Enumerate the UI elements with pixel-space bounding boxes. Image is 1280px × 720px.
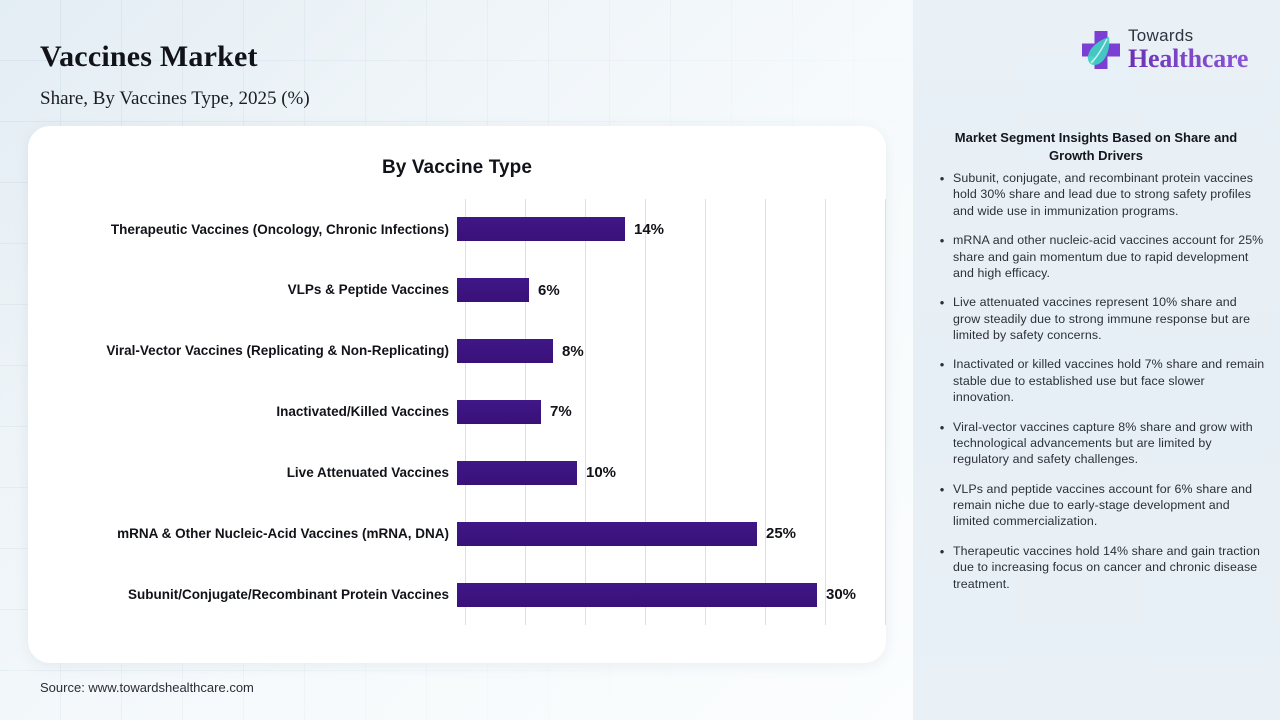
bar-value-label: 10% xyxy=(586,464,616,481)
bar-chart: Therapeutic Vaccines (Oncology, Chronic … xyxy=(28,126,886,663)
insight-text: Viral-vector vaccines capture 8% share a… xyxy=(953,419,1266,468)
bar-value-label: 8% xyxy=(562,343,584,360)
category-label: mRNA & Other Nucleic-Acid Vaccines (mRNA… xyxy=(28,523,457,545)
category-label: Inactivated/Killed Vaccines xyxy=(28,401,457,423)
bar[interactable] xyxy=(457,461,577,485)
bullet-icon: • xyxy=(931,232,953,281)
insight-text: Therapeutic vaccines hold 14% share and … xyxy=(953,543,1266,592)
category-label: VLPs & Peptide Vaccines xyxy=(28,279,457,301)
insights-list: •Subunit, conjugate, and recombinant pro… xyxy=(931,170,1266,605)
bar-value-label: 25% xyxy=(766,525,796,542)
bar-value-label: 14% xyxy=(634,221,664,238)
bar[interactable] xyxy=(457,522,757,546)
insight-text: VLPs and peptide vaccines account for 6%… xyxy=(953,481,1266,530)
bar-row: VLPs & Peptide Vaccines6% xyxy=(28,260,886,321)
bar-row: Viral-Vector Vaccines (Replicating & Non… xyxy=(28,321,886,382)
bullet-icon: • xyxy=(931,481,953,530)
bullet-icon: • xyxy=(931,170,953,219)
page-subtitle: Share, By Vaccines Type, 2025 (%) xyxy=(40,88,310,110)
bullet-icon: • xyxy=(931,294,953,343)
insight-item: •Subunit, conjugate, and recombinant pro… xyxy=(931,170,1266,219)
insight-item: •VLPs and peptide vaccines account for 6… xyxy=(931,481,1266,530)
category-label: Viral-Vector Vaccines (Replicating & Non… xyxy=(28,340,457,362)
insight-item: •Inactivated or killed vaccines hold 7% … xyxy=(931,356,1266,405)
bullet-icon: • xyxy=(931,419,953,468)
bar[interactable] xyxy=(457,217,625,241)
bar-row: Inactivated/Killed Vaccines7% xyxy=(28,382,886,443)
bar[interactable] xyxy=(457,339,553,363)
bar[interactable] xyxy=(457,278,529,302)
bar[interactable] xyxy=(457,400,541,424)
insight-text: Inactivated or killed vaccines hold 7% s… xyxy=(953,356,1266,405)
insight-text: Subunit, conjugate, and recombinant prot… xyxy=(953,170,1266,219)
bullet-icon: • xyxy=(931,356,953,405)
bar-row: Live Attenuated Vaccines10% xyxy=(28,442,886,503)
bar[interactable] xyxy=(457,583,817,607)
insight-item: •mRNA and other nucleic-acid vaccines ac… xyxy=(931,232,1266,281)
insight-text: Live attenuated vaccines represent 10% s… xyxy=(953,294,1266,343)
bar-container: 6% xyxy=(457,260,886,321)
insight-item: •Therapeutic vaccines hold 14% share and… xyxy=(931,543,1266,592)
category-label: Live Attenuated Vaccines xyxy=(28,462,457,484)
insight-text: mRNA and other nucleic-acid vaccines acc… xyxy=(953,232,1266,281)
insight-item: •Live attenuated vaccines represent 10% … xyxy=(931,294,1266,343)
insights-panel: Market Segment Insights Based on Share a… xyxy=(913,0,1280,720)
bar-container: 8% xyxy=(457,321,886,382)
bar-container: 30% xyxy=(457,564,886,625)
insight-item: •Viral-vector vaccines capture 8% share … xyxy=(931,419,1266,468)
bar-row: Therapeutic Vaccines (Oncology, Chronic … xyxy=(28,199,886,260)
insights-title: Market Segment Insights Based on Share a… xyxy=(943,129,1249,164)
chart-card: By Vaccine Type Therapeutic Vaccines (On… xyxy=(28,126,886,663)
source-note: Source: www.towardshealthcare.com xyxy=(40,680,254,695)
bar-row: mRNA & Other Nucleic-Acid Vaccines (mRNA… xyxy=(28,503,886,564)
bar-row: Subunit/Conjugate/Recombinant Protein Va… xyxy=(28,564,886,625)
bar-value-label: 30% xyxy=(826,586,856,603)
bar-rows: Therapeutic Vaccines (Oncology, Chronic … xyxy=(28,126,886,663)
bar-container: 10% xyxy=(457,442,886,503)
bar-container: 25% xyxy=(457,503,886,564)
category-label: Subunit/Conjugate/Recombinant Protein Va… xyxy=(28,584,457,606)
page-title: Vaccines Market xyxy=(40,40,258,74)
category-label: Therapeutic Vaccines (Oncology, Chronic … xyxy=(28,219,457,241)
bar-value-label: 7% xyxy=(550,403,572,420)
bar-container: 7% xyxy=(457,382,886,443)
bullet-icon: • xyxy=(931,543,953,592)
bar-container: 14% xyxy=(457,199,886,260)
bar-value-label: 6% xyxy=(538,282,560,299)
